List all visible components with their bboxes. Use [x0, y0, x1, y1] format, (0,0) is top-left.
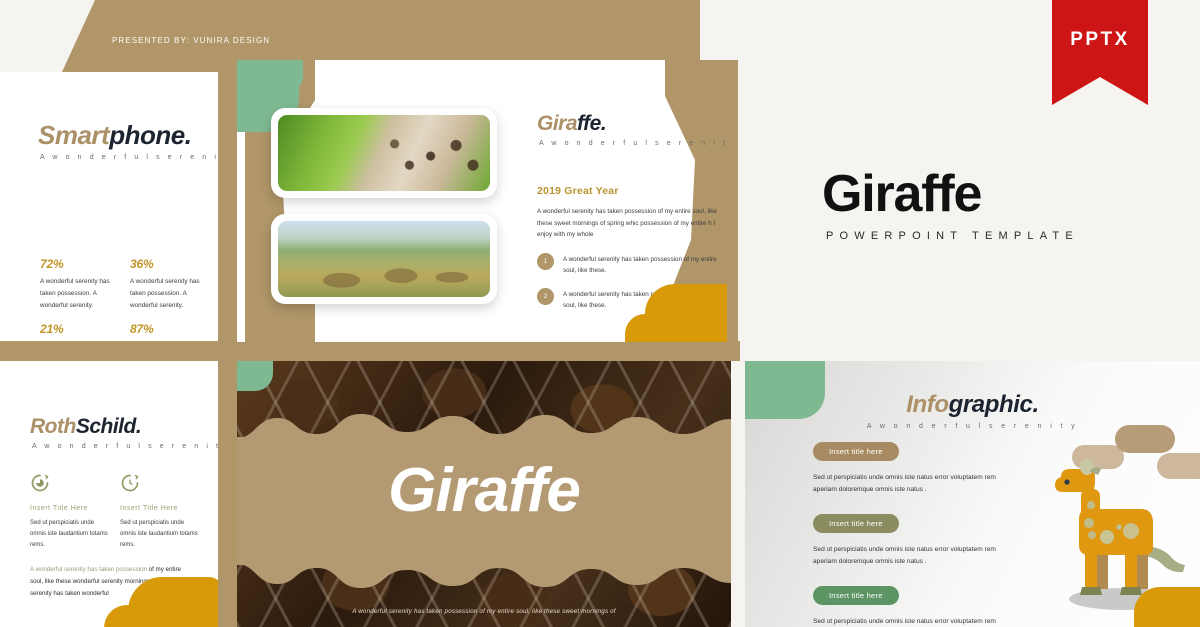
clock-arrow-icon: [120, 473, 140, 493]
content-title: Giraffe.: [537, 112, 606, 136]
rothschild-title-accent: Roth: [30, 415, 76, 438]
presented-by-text: PRESENTED BY: VUNIRA DESIGN: [112, 36, 270, 45]
column-text: Sed ut perspiciatis unde omnis iste laud…: [120, 518, 198, 551]
photo-card[interactable]: [271, 214, 497, 304]
vertical-tan-divider: [218, 0, 237, 627]
rothschild-title-dark: Schild.: [76, 415, 141, 438]
infographic-row: Insert title here Sed ut perspiciatis un…: [813, 513, 1023, 567]
content-title-accent: Gira: [537, 112, 577, 135]
hero-caption: A wonderful serenity has taken possessio…: [237, 608, 731, 615]
rothschild-subtitle: A w o n d e r f u l s e r e n i t y: [32, 443, 218, 450]
stat-block: 72% A wonderful serenity has taken posse…: [40, 257, 118, 312]
slide-smartphone[interactable]: Smartphone. A w o n d e r f u l s e r e …: [0, 72, 218, 341]
stat-percent: 36%: [130, 257, 208, 271]
content-paragraph: A wonderful serenity has taken possessio…: [537, 206, 727, 241]
smartphone-title-accent: Smart: [38, 120, 109, 150]
infographic-row-text: Sed ut perspiciatis unde omnis iste natu…: [813, 544, 1013, 567]
photo-card[interactable]: [271, 108, 497, 198]
horizontal-tan-divider: [0, 341, 740, 361]
content-title-dark: ffe.: [577, 112, 606, 135]
rothschild-title: RothSchild.: [30, 415, 141, 439]
slide-rothschild[interactable]: RothSchild. A w o n d e r f u l s e r e …: [0, 361, 218, 627]
stat-text: A wonderful serenity has taken possessio…: [40, 276, 118, 312]
stat-block: 36% A wonderful serenity has taken posse…: [130, 257, 208, 312]
infographic-row: Insert title here Sed ut perspiciatis un…: [813, 585, 1023, 627]
smartphone-title: Smartphone.: [38, 120, 191, 151]
list-item-number: 1: [537, 253, 554, 270]
wave-bottom-edge: [237, 564, 731, 590]
stat-text: A wonderful serenity has taken possessio…: [130, 276, 208, 312]
infographic-title-dark: graphic.: [949, 391, 1039, 418]
presented-by-label: PRESENTED BY: VUNIRA DESIGN: [112, 36, 270, 45]
stat-percent: 87%: [130, 322, 208, 336]
giraffes-on-savannah-photo: [278, 221, 490, 297]
column-text: Sed ut perspiciatis unde omnis iste laud…: [30, 518, 108, 551]
hero-word: Giraffe: [237, 455, 731, 526]
insert-title-pill[interactable]: Insert title here: [813, 586, 899, 605]
insert-title-pill[interactable]: Insert title here: [813, 514, 899, 533]
slide-giraffe-content[interactable]: Giraffe. A w o n d e r f u l s e r e n i…: [237, 60, 727, 342]
content-list-item: 1 A wonderful serenity has taken possess…: [537, 253, 727, 279]
infographic-title: Infographic.: [745, 391, 1200, 419]
mustard-blob: [1134, 587, 1200, 627]
stat-block: 21% A wonderful serenity has taken posse…: [40, 322, 118, 341]
infographic-row-text: Sed ut perspiciatis unde omnis iste natu…: [813, 616, 1013, 627]
slide-infographic[interactable]: Infographic. A w o n d e r f u l s e r e…: [745, 361, 1200, 627]
content-subtitle: A w o n d e r f u l s e r e n i t y: [539, 140, 727, 147]
giraffe-head-closeup-photo: [278, 115, 490, 191]
column-title: Insert Title Here: [120, 505, 198, 512]
infographic-row: Insert title here Sed ut perspiciatis un…: [813, 441, 1023, 495]
pptx-ribbon-label: PPTX: [1052, 29, 1148, 51]
footer-muted-text: A wonderful serenity has taken possessio…: [30, 566, 149, 573]
list-item-number: 2: [537, 288, 554, 305]
rothschild-column: Insert Title Here Sed ut perspiciatis un…: [120, 473, 198, 551]
infographic-title-accent: Info: [906, 391, 948, 418]
mustard-blob: [645, 284, 727, 342]
hero-panel-title: Giraffe: [822, 164, 981, 224]
smartphone-title-dark: phone.: [109, 120, 191, 150]
wave-top-edge: [237, 412, 731, 438]
hero-panel-subtitle: POWERPOINT TEMPLATE: [826, 230, 1079, 242]
slide-giraffe-hero[interactable]: Giraffe A wonderful serenity has taken p…: [237, 361, 731, 627]
insert-title-pill[interactable]: Insert title here: [813, 442, 899, 461]
stat-percent: 72%: [40, 257, 118, 271]
pie-chart-icon: [30, 473, 50, 493]
column-title: Insert Title Here: [30, 505, 108, 512]
rothschild-column: Insert Title Here Sed ut perspiciatis un…: [30, 473, 108, 551]
stat-block: 87% A wonderful serenity has taken posse…: [130, 322, 208, 341]
stat-percent: 21%: [40, 322, 118, 336]
poster-stage: PRESENTED BY: VUNIRA DESIGN Smartphone. …: [0, 0, 1200, 627]
infographic-row-text: Sed ut perspiciatis unde omnis iste natu…: [813, 472, 1013, 495]
smartphone-subtitle: A w o n d e r f u l s e r e n i t y: [40, 154, 218, 161]
content-heading: 2019 Great Year: [537, 185, 619, 197]
decorative-pill-blob: [1115, 425, 1175, 453]
list-item-text: A wonderful serenity has taken possessio…: [563, 254, 727, 276]
